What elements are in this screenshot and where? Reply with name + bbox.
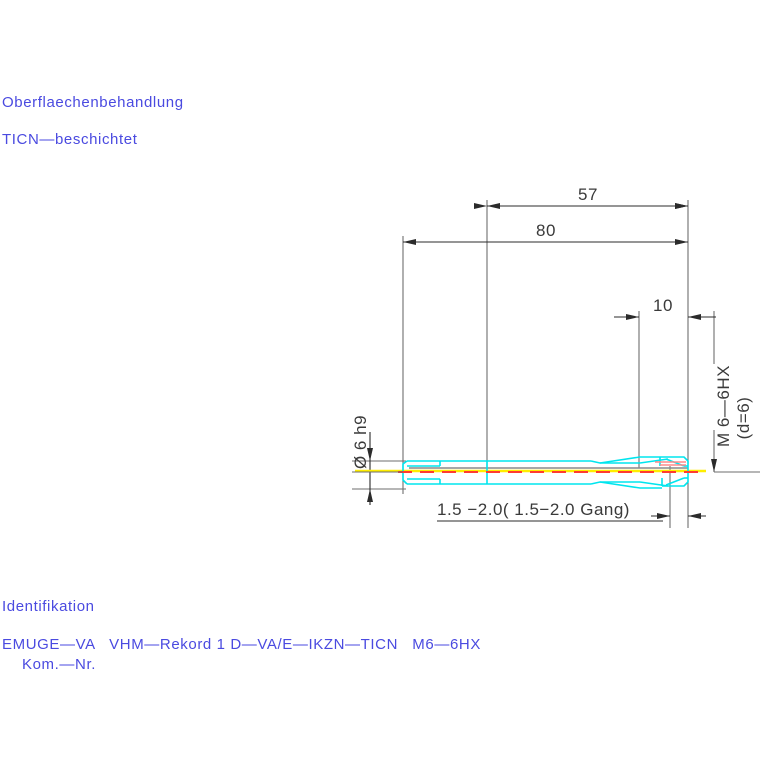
dimension-10: 10	[614, 296, 716, 320]
dim-label-10: 10	[653, 296, 673, 315]
dim-label-thread-spec: M 6—6HX	[714, 365, 733, 447]
dim-57-arrow-right	[675, 203, 688, 209]
dim-label-shank-diameter: Ø 6 h9	[351, 415, 370, 469]
dim-10-arrow-right	[688, 314, 701, 320]
thread-callout: M 6—6HX (d=6)	[711, 365, 760, 472]
dim-80-arrow-right	[675, 239, 688, 245]
dim-label-pitch: 1.5 −2.0( 1.5−2.0 Gang)	[437, 500, 630, 519]
tool-body	[355, 457, 706, 488]
dia-arrow-bottom	[367, 489, 373, 502]
dimension-80: 80	[403, 221, 688, 245]
dim-label-57: 57	[578, 185, 598, 204]
dimension-57: 57	[487, 185, 688, 209]
dim-label-thread-depth: (d=6)	[734, 397, 753, 440]
dim-10-arrow-left	[626, 314, 639, 320]
dim-80-arrow-left	[403, 239, 416, 245]
drawing-sheet: Oberflaechenbehandlung TICN—beschichtet …	[0, 0, 767, 767]
dim-57-arrow-left	[487, 203, 500, 209]
pitch-note-group: 1.5 −2.0( 1.5−2.0 Gang)	[437, 500, 706, 521]
technical-drawing-canvas: 57 80 10 Ø 6 h9	[0, 0, 767, 767]
dimension-shank-diameter: Ø 6 h9	[351, 415, 406, 505]
pitch-gap-arrow-right	[688, 513, 701, 519]
pitch-gap-arrow-left	[657, 513, 670, 519]
thread-leader-arrow	[711, 459, 717, 472]
dim-label-80: 80	[536, 221, 556, 240]
flute-lower-1	[600, 482, 662, 488]
extension-lines	[403, 200, 714, 528]
tip-chamfer-lower	[666, 478, 684, 485]
